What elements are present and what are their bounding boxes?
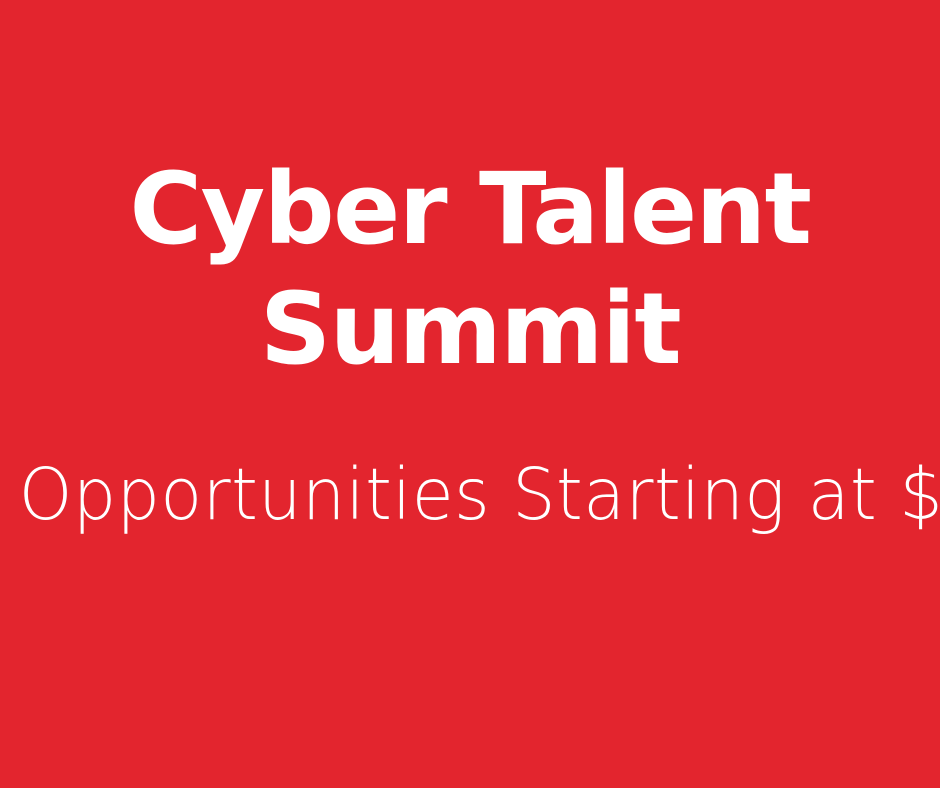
- headline-line-2: Summit: [0, 270, 940, 390]
- promo-poster: Cyber Talent Summit Opportunities Starti…: [0, 0, 940, 788]
- subtitle-pricing: Opportunities Starting at $500: [19, 452, 921, 538]
- headline-line-1: Cyber Talent: [0, 150, 940, 270]
- page-title: Cyber Talent Summit: [0, 150, 940, 390]
